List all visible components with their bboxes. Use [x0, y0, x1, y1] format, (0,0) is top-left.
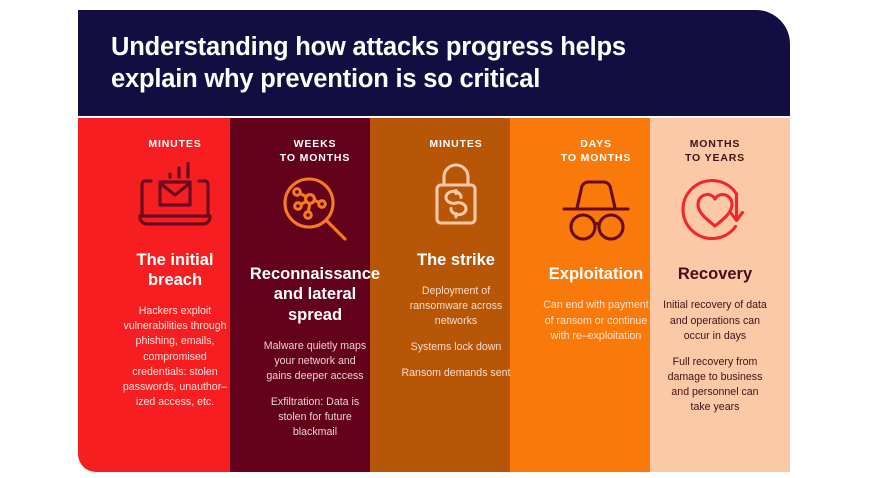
header-banner: Understanding how attacks progress helps…	[78, 10, 790, 116]
stage-time-label: WEEKS TO MONTHS	[280, 137, 350, 165]
heart-refresh-icon	[678, 174, 752, 248]
stage-paragraph: Initial recovery of data and operations …	[663, 298, 767, 343]
stage-paragraph: Full recovery from damage to business an…	[663, 355, 767, 415]
attack-stages-band: MINUTES The initial breach Ha	[78, 118, 790, 472]
stage-title: The strike	[417, 250, 495, 270]
hat-glasses-incognito-icon	[556, 174, 636, 248]
stage-time-label: MINUTES	[148, 137, 201, 151]
stage-time-label: DAYS TO MONTHS	[561, 137, 631, 165]
stage-title: The initial breach	[136, 250, 213, 290]
stage-body: Initial recovery of data and operations …	[663, 298, 767, 414]
network-magnifier-icon	[279, 174, 351, 248]
stage-time-label: MINUTES	[429, 137, 482, 151]
page-title: Understanding how attacks progress helps…	[78, 31, 646, 95]
stage-recovery[interactable]: MONTHS TO YEARS Recovery Initial recover…	[626, 118, 790, 472]
stage-title: Recovery	[678, 264, 752, 284]
padlock-dollar-icon	[425, 160, 487, 234]
infographic-root: Understanding how attacks progress helps…	[0, 0, 872, 478]
stage-time-label: MONTHS TO YEARS	[685, 137, 745, 165]
